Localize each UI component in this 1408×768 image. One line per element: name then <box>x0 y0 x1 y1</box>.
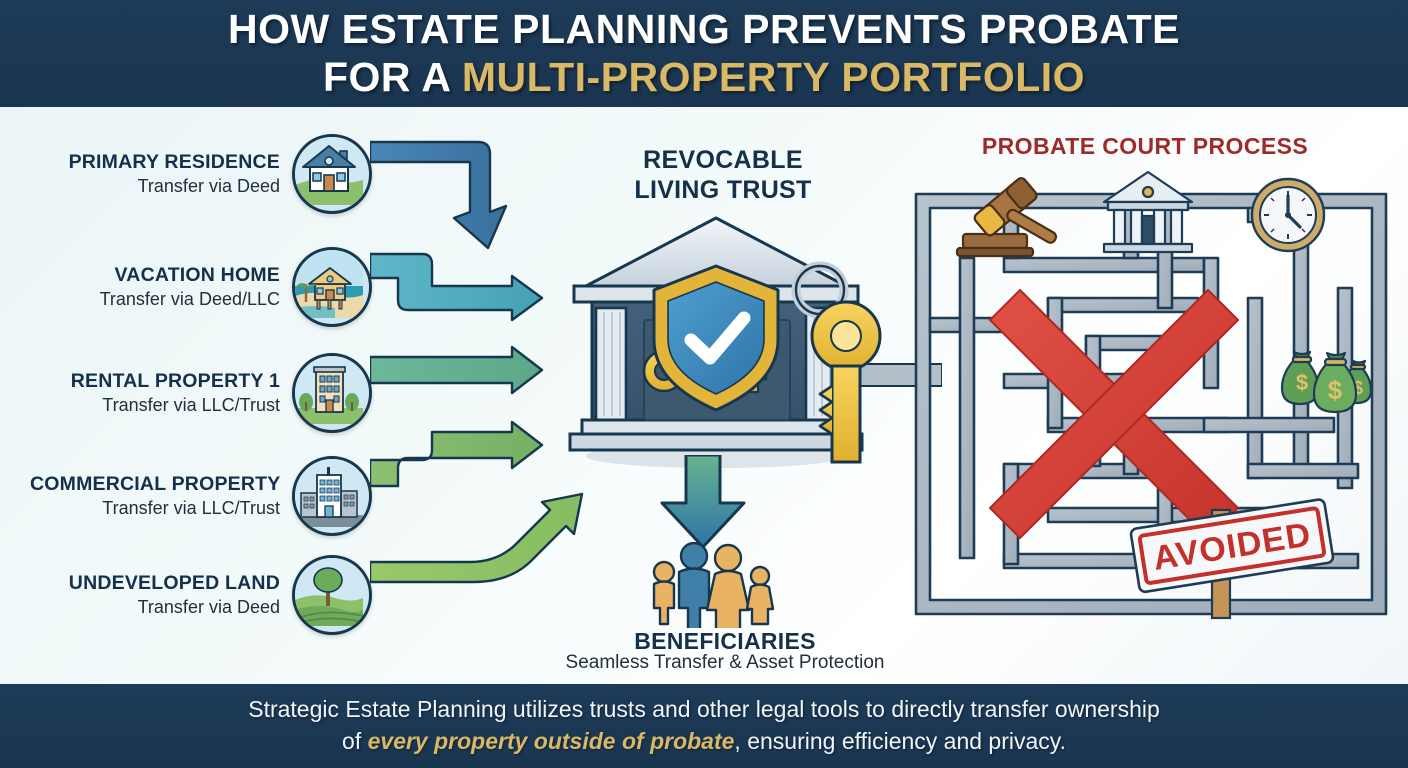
beneficiaries-subtitle: Seamless Transfer & Asset Protection <box>470 652 980 674</box>
house-icon <box>292 134 372 214</box>
office-building-icon <box>292 456 372 536</box>
footer-line2: of every property outside of probate, en… <box>342 726 1066 758</box>
header-line2-gold: MULTI-PROPERTY PORTFOLIO <box>462 54 1085 100</box>
money-bags-icon: $ $ $ <box>1280 336 1384 416</box>
header-title-line2: FOR A MULTI-PROPERTY PORTFOLIO <box>323 56 1085 99</box>
property-label-group: VACATION HOME Transfer via Deed/LLC <box>30 264 292 311</box>
property-item-primary-residence[interactable]: PRIMARY RESIDENCE Transfer via Deed <box>30 134 372 214</box>
footer-line2-post: , ensuring efficiency and privacy. <box>734 728 1066 754</box>
trust-title-line1: REVOCABLE <box>583 146 863 176</box>
header-line2-white: FOR A <box>323 54 462 100</box>
beneficiaries-family-icon <box>638 542 778 628</box>
property-label-group: COMMERCIAL PROPERTY Transfer via LLC/Tru… <box>30 473 292 520</box>
property-subtitle: Transfer via LLC/Trust <box>30 497 280 520</box>
property-title: PRIMARY RESIDENCE <box>30 151 280 173</box>
arrow-primary-residence <box>370 142 506 248</box>
svg-text:$: $ <box>1296 370 1308 395</box>
property-item-commercial-property[interactable]: COMMERCIAL PROPERTY Transfer via LLC/Tru… <box>30 456 372 536</box>
property-subtitle: Transfer via Deed <box>30 175 280 198</box>
clock-icon <box>1248 175 1328 255</box>
arrow-commercial-property <box>370 422 542 486</box>
property-label-group: RENTAL PROPERTY 1 Transfer via LLC/Trust <box>30 370 292 417</box>
footer-line2-pre: of <box>342 728 368 754</box>
header-banner: HOW ESTATE PLANNING PREVENTS PROBATE FOR… <box>0 0 1408 107</box>
property-subtitle: Transfer via Deed <box>30 596 280 619</box>
arrow-rental-property <box>370 347 542 393</box>
land-tree-icon <box>292 555 372 635</box>
property-item-vacation-home[interactable]: VACATION HOME Transfer via Deed/LLC <box>30 247 372 327</box>
trust-title: REVOCABLE LIVING TRUST <box>583 146 863 205</box>
property-subtitle: Transfer via LLC/Trust <box>30 394 280 417</box>
property-item-rental-property-1[interactable]: RENTAL PROPERTY 1 Transfer via LLC/Trust <box>30 353 372 433</box>
beach-house-icon <box>292 247 372 327</box>
property-item-undeveloped-land[interactable]: UNDEVELOPED LAND Transfer via Deed <box>30 555 372 635</box>
property-label-group: PRIMARY RESIDENCE Transfer via Deed <box>30 151 292 198</box>
property-subtitle: Transfer via Deed/LLC <box>30 288 280 311</box>
avoided-sign: AVOIDED <box>1120 488 1348 620</box>
infographic-canvas: HOW ESTATE PLANNING PREVENTS PROBATE FOR… <box>0 0 1408 768</box>
footer-line2-gold: every property outside of probate <box>368 728 735 754</box>
apartment-icon <box>292 353 372 433</box>
property-title: RENTAL PROPERTY 1 <box>30 370 280 392</box>
gavel-icon <box>955 172 1065 258</box>
revocable-living-trust-icon <box>546 208 886 478</box>
svg-text:$: $ <box>1328 375 1343 405</box>
courthouse-icon <box>1100 168 1196 254</box>
footer-line1: Strategic Estate Planning utilizes trust… <box>248 694 1160 726</box>
property-title: COMMERCIAL PROPERTY <box>30 473 280 495</box>
footer-banner: Strategic Estate Planning utilizes trust… <box>0 684 1408 768</box>
property-title: UNDEVELOPED LAND <box>30 572 280 594</box>
property-label-group: UNDEVELOPED LAND Transfer via Deed <box>30 572 292 619</box>
header-title-line1: HOW ESTATE PLANNING PREVENTS PROBATE <box>228 8 1180 51</box>
arrow-to-beneficiaries <box>648 455 758 550</box>
arrow-undeveloped-land <box>370 494 582 582</box>
trust-title-line2: LIVING TRUST <box>583 176 863 206</box>
beneficiaries-title: BENEFICIARIES <box>530 628 920 655</box>
property-title: VACATION HOME <box>30 264 280 286</box>
probate-court-process-title: PROBATE COURT PROCESS <box>980 133 1310 160</box>
arrow-vacation-home <box>370 254 542 320</box>
